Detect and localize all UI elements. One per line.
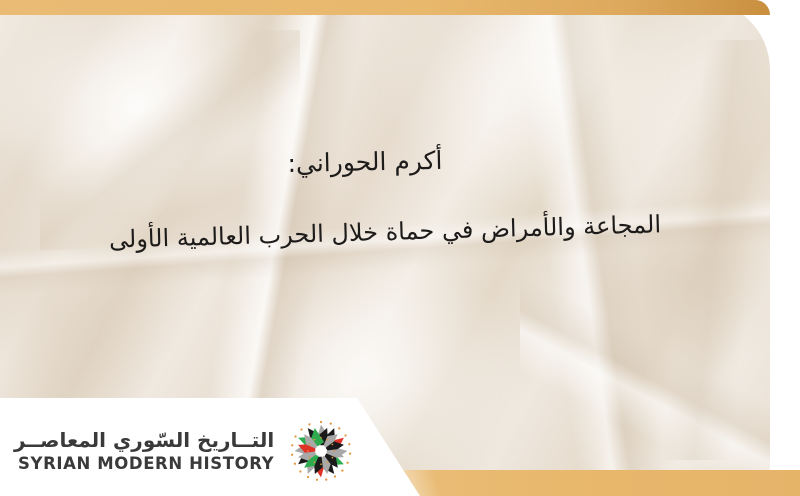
logo-wordmark: التــاريخ السّوري المعاصــر SYRIAN MODER…	[14, 427, 274, 475]
bottom-gold-band-fade	[352, 470, 472, 496]
rosette-emblem-icon	[288, 418, 354, 484]
headline-block: أكرم الحوراني: المجاعة والأمراض في حماة …	[0, 140, 770, 254]
site-logo[interactable]: التــاريخ السّوري المعاصــر SYRIAN MODER…	[14, 414, 344, 488]
logo-english-name: SYRIAN MODERN HISTORY	[14, 453, 274, 475]
headline-line-1: أكرم الحوراني:	[0, 132, 770, 192]
top-gold-band	[0, 0, 770, 15]
logo-arabic-name: التــاريخ السّوري المعاصــر	[14, 427, 274, 453]
poster-card: أكرم الحوراني: المجاعة والأمراض في حماة …	[0, 0, 800, 496]
